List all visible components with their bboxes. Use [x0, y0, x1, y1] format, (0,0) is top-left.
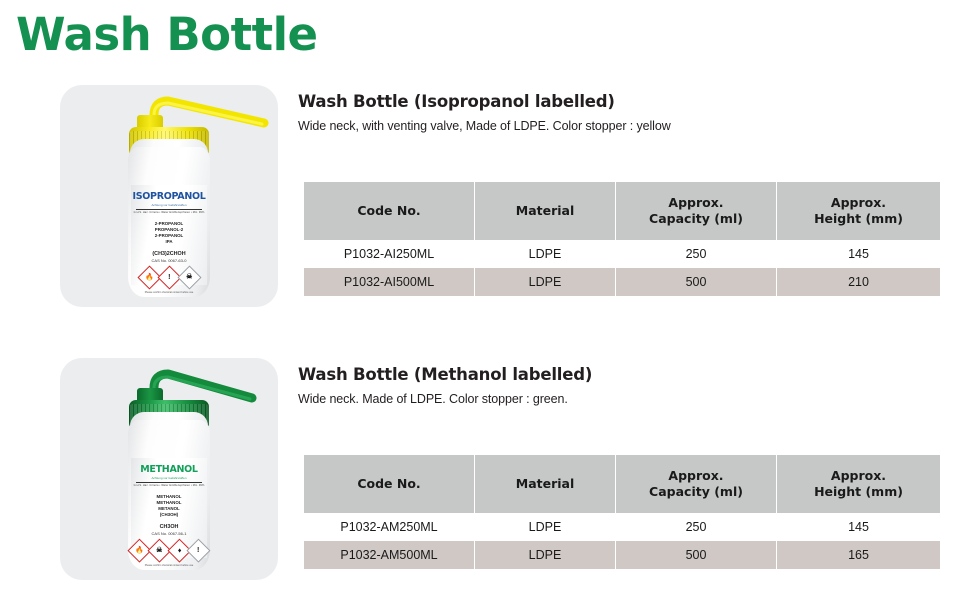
cell-height: 145: [777, 513, 940, 541]
specifications-table: Code No. Material Approx. Capacity (ml) …: [303, 182, 941, 296]
table-header-row: Code No. Material Approx. Capacity (ml) …: [304, 182, 940, 240]
column-header-material: Material: [475, 182, 615, 240]
product-description: Wide neck, with venting valve, Made of L…: [298, 119, 671, 133]
column-header-code: Code No.: [304, 182, 474, 240]
column-header-code: Code No.: [304, 455, 474, 513]
column-header-capacity: Approx. Capacity (ml): [616, 182, 776, 240]
cell-capacity: 250: [616, 240, 776, 268]
table-row: P1032-AI500ML LDPE 500 210: [304, 268, 940, 296]
column-header-height: Approx. Height (mm): [777, 455, 940, 513]
product-image-card: [60, 85, 278, 307]
cell-height: 210: [777, 268, 940, 296]
column-header-height: Approx. Height (mm): [777, 182, 940, 240]
cell-height: 145: [777, 240, 940, 268]
column-header-capacity: Approx. Capacity (ml): [616, 455, 776, 513]
cell-code: P1032-AM250ML: [304, 513, 474, 541]
cell-code: P1032-AI250ML: [304, 240, 474, 268]
cell-code: P1032-AM500ML: [304, 541, 474, 569]
cell-material: LDPE: [475, 513, 615, 541]
cell-capacity: 500: [616, 268, 776, 296]
specifications-table: Code No. Material Approx. Capacity (ml) …: [303, 455, 941, 569]
table-row: P1032-AI250ML LDPE 250 145: [304, 240, 940, 268]
cell-material: LDPE: [475, 541, 615, 569]
product-heading: Wash Bottle (Methanol labelled): [298, 365, 592, 384]
cell-material: LDPE: [475, 268, 615, 296]
product-heading: Wash Bottle (Isopropanol labelled): [298, 92, 615, 111]
product-image-card: [60, 358, 278, 580]
column-header-material: Material: [475, 455, 615, 513]
table-header-row: Code No. Material Approx. Capacity (ml) …: [304, 455, 940, 513]
cell-capacity: 500: [616, 541, 776, 569]
table-row: P1032-AM500ML LDPE 500 165: [304, 541, 940, 569]
product-description: Wide neck. Made of LDPE. Color stopper :…: [298, 392, 568, 406]
table-row: P1032-AM250ML LDPE 250 145: [304, 513, 940, 541]
cell-height: 165: [777, 541, 940, 569]
page-title: Wash Bottle: [16, 12, 318, 57]
cell-material: LDPE: [475, 240, 615, 268]
cell-capacity: 250: [616, 513, 776, 541]
cell-code: P1032-AI500ML: [304, 268, 474, 296]
